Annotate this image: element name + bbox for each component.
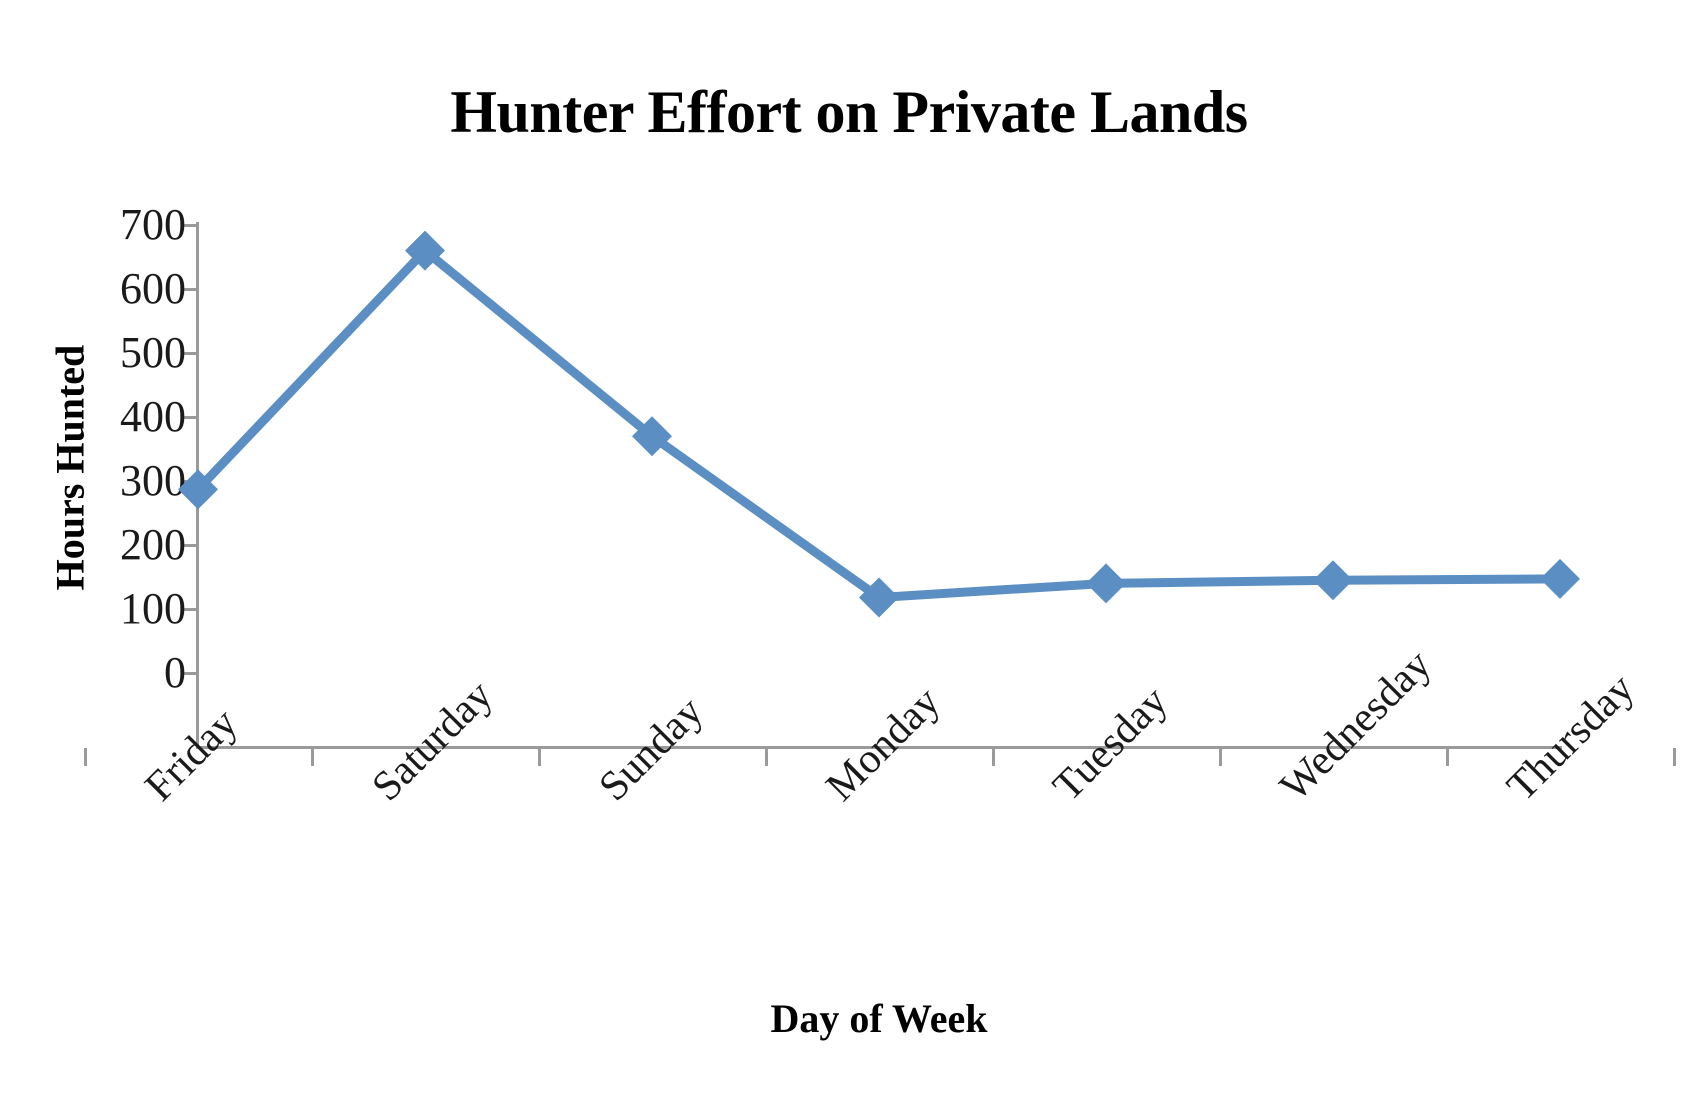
- x-axis-tick: [311, 748, 314, 766]
- data-point-marker: [1313, 560, 1353, 600]
- x-axis-category-label: Sunday: [592, 690, 711, 809]
- data-point-marker: [1086, 563, 1126, 603]
- x-axis-category-label: Saturday: [365, 673, 500, 808]
- x-axis-category-label: Wednesday: [1273, 643, 1439, 809]
- y-axis-tick-label: 500: [120, 331, 186, 375]
- x-axis-title: Day of Week: [198, 995, 1560, 1042]
- series-line-chart: [0, 0, 1698, 1093]
- data-point-marker: [632, 416, 672, 456]
- x-axis-tick: [1446, 748, 1449, 766]
- y-axis-title: Hours Hunted: [47, 208, 94, 728]
- y-axis-tick-label: 400: [120, 395, 186, 439]
- y-axis-tick-label: 700: [120, 203, 186, 247]
- y-axis-tick-label: 100: [120, 587, 186, 631]
- chart-canvas: Hunter Effort on Private Lands 700600500…: [0, 0, 1698, 1093]
- x-axis-tick: [1219, 748, 1222, 766]
- chart-title: Hunter Effort on Private Lands: [0, 78, 1698, 147]
- y-axis-tick-label: 0: [164, 651, 186, 695]
- x-axis-tick: [1673, 748, 1676, 766]
- x-axis-tick: [538, 748, 541, 766]
- data-point-marker: [859, 577, 899, 617]
- x-axis-category-label: Tuesday: [1046, 679, 1175, 808]
- x-axis-category-label: Monday: [819, 680, 948, 809]
- x-axis-category-label: Friday: [138, 701, 245, 808]
- series-line: [198, 251, 1560, 598]
- data-point-marker: [405, 231, 445, 271]
- x-axis-category-label: Thursday: [1500, 667, 1642, 809]
- y-axis-tick-label: 600: [120, 267, 186, 311]
- data-point-marker: [1540, 559, 1580, 599]
- x-axis-tick: [84, 748, 87, 766]
- y-axis-tick-label: 200: [120, 523, 186, 567]
- x-axis-tick: [765, 748, 768, 766]
- y-axis-line: [196, 222, 199, 748]
- y-axis-tick-label: 300: [120, 459, 186, 503]
- x-axis-tick: [992, 748, 995, 766]
